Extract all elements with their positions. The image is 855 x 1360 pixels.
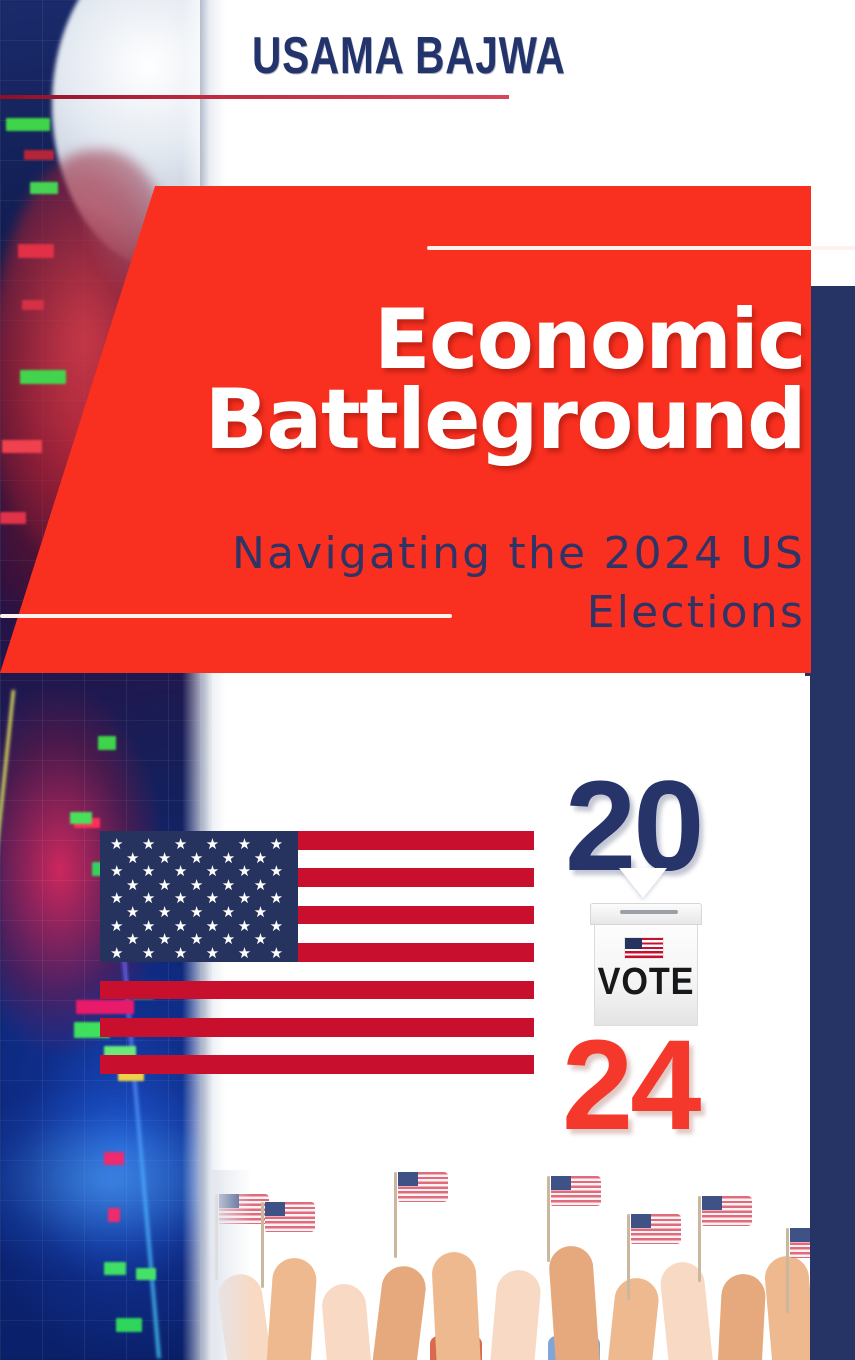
ballot-box-slot <box>620 910 678 914</box>
flag-star: ★ <box>158 932 171 947</box>
flag-canton-small <box>265 1202 285 1216</box>
flag-star: ★ <box>270 946 283 961</box>
flag-star: ★ <box>110 891 123 906</box>
flag-star: ★ <box>126 932 139 947</box>
flag-canton-small <box>631 1214 651 1228</box>
flag-stripe <box>100 1037 534 1056</box>
flag-star: ★ <box>110 919 123 934</box>
flag-star: ★ <box>142 946 155 961</box>
flag-star: ★ <box>126 905 139 920</box>
raised-hand <box>658 1260 713 1360</box>
candlestick <box>30 182 58 194</box>
candlestick <box>116 1318 142 1332</box>
flag-star: ★ <box>270 837 283 852</box>
raised-hand <box>320 1282 371 1360</box>
mini-us-flag <box>543 1176 601 1212</box>
flag-pole <box>786 1228 789 1314</box>
raised-hand <box>718 1273 767 1360</box>
candlestick <box>108 1208 120 1222</box>
candlestick <box>104 1262 126 1275</box>
flag-star: ★ <box>222 851 235 866</box>
banner-top-rule <box>427 246 855 250</box>
flag-star: ★ <box>126 851 139 866</box>
flag-star: ★ <box>126 878 139 893</box>
raised-hand <box>372 1264 428 1360</box>
flag-star: ★ <box>222 878 235 893</box>
flag-star: ★ <box>206 919 219 934</box>
candlestick <box>6 118 50 131</box>
flag-star: ★ <box>158 851 171 866</box>
flag-star: ★ <box>110 837 123 852</box>
ballot-box-flag-icon <box>624 937 664 959</box>
flag-canton: ★★★★★★★★★★★★★★★★★★★★★★★★★★★★★★★★★★★★★★★★… <box>100 831 298 962</box>
title-line-2: Battleground <box>60 380 805 460</box>
flag-star: ★ <box>110 946 123 961</box>
flag-star: ★ <box>270 891 283 906</box>
author-underline-rule <box>0 95 509 99</box>
hands-with-flags-graphic <box>212 1170 810 1360</box>
flag-star: ★ <box>238 891 251 906</box>
book-cover: USAMA BAJWA Economic Battleground Naviga… <box>0 0 855 1360</box>
candlestick <box>18 244 54 258</box>
flag-canton-small <box>702 1196 722 1210</box>
mini-us-flag <box>257 1202 315 1238</box>
hands-left-fade <box>212 1170 252 1360</box>
book-subtitle: Navigating the 2024 US Elections <box>60 525 805 642</box>
flag-star: ★ <box>142 837 155 852</box>
candlestick <box>2 440 42 453</box>
flag-star: ★ <box>206 837 219 852</box>
flag-star: ★ <box>158 905 171 920</box>
candlestick <box>98 736 116 750</box>
author-name: USAMA BAJWA <box>252 26 566 86</box>
flag-star: ★ <box>174 946 187 961</box>
flag-star: ★ <box>238 919 251 934</box>
flag-star: ★ <box>174 837 187 852</box>
raised-hand <box>548 1245 601 1360</box>
chart-blue-glow <box>0 1090 212 1270</box>
flag-stripe <box>100 1018 534 1037</box>
flag-star: ★ <box>254 878 267 893</box>
flag-star: ★ <box>206 946 219 961</box>
candlestick <box>104 1152 124 1165</box>
flag-canton-small <box>398 1172 418 1186</box>
down-arrow-icon <box>619 868 667 898</box>
flag-star: ★ <box>110 864 123 879</box>
ballot-box-vote-label: VOTE <box>596 961 697 1004</box>
flag-pole <box>627 1214 630 1300</box>
book-title: Economic Battleground <box>60 300 805 459</box>
flag-star: ★ <box>238 946 251 961</box>
mini-us-flag <box>623 1214 681 1250</box>
candlestick <box>70 812 92 824</box>
flag-canton-small <box>551 1176 571 1190</box>
flag-pole <box>547 1176 550 1262</box>
flag-star: ★ <box>238 864 251 879</box>
ballot-flag-canton <box>625 938 642 949</box>
raised-hand <box>266 1257 318 1360</box>
raised-hand <box>431 1251 481 1360</box>
flag-star: ★ <box>270 864 283 879</box>
flag-pole <box>394 1172 397 1258</box>
flag-star: ★ <box>174 919 187 934</box>
flag-star: ★ <box>190 905 203 920</box>
flag-star: ★ <box>254 851 267 866</box>
flag-star: ★ <box>254 932 267 947</box>
mini-us-flag <box>390 1172 448 1208</box>
raised-hand <box>490 1268 543 1360</box>
flag-star: ★ <box>158 878 171 893</box>
candlestick <box>24 150 54 160</box>
flag-star: ★ <box>190 851 203 866</box>
ballot-box-graphic: VOTE <box>590 903 702 1026</box>
candlestick <box>22 300 44 310</box>
flag-star: ★ <box>142 891 155 906</box>
flag-star: ★ <box>238 837 251 852</box>
year-suffix-24: 24 <box>562 1022 698 1150</box>
flag-star: ★ <box>190 932 203 947</box>
subtitle-line-2: Elections <box>60 584 805 643</box>
flag-pole <box>698 1196 701 1282</box>
flag-star: ★ <box>254 905 267 920</box>
flag-star: ★ <box>206 864 219 879</box>
mini-us-flag <box>694 1196 752 1232</box>
candlestick <box>136 1268 156 1280</box>
flag-star: ★ <box>142 919 155 934</box>
ballot-box-lid <box>590 903 702 925</box>
flag-star: ★ <box>190 878 203 893</box>
mini-us-flag <box>782 1228 810 1264</box>
flag-star: ★ <box>174 864 187 879</box>
flag-stripe <box>100 999 534 1018</box>
flag-pole <box>261 1202 264 1288</box>
navy-accent-panel <box>810 286 855 1360</box>
us-flag-graphic: ★★★★★★★★★★★★★★★★★★★★★★★★★★★★★★★★★★★★★★★★… <box>100 831 534 1074</box>
flag-stripe <box>100 962 534 981</box>
subtitle-line-1: Navigating the 2024 US <box>232 528 805 579</box>
flag-stripe <box>100 981 534 1000</box>
flag-star: ★ <box>270 919 283 934</box>
flag-star: ★ <box>206 891 219 906</box>
flag-star: ★ <box>142 864 155 879</box>
flag-star: ★ <box>174 891 187 906</box>
flag-star: ★ <box>222 905 235 920</box>
flag-stripe <box>100 1055 534 1074</box>
candlestick <box>0 512 26 524</box>
flag-star: ★ <box>222 932 235 947</box>
flag-canton-small <box>790 1228 810 1242</box>
raised-hand <box>607 1276 660 1360</box>
